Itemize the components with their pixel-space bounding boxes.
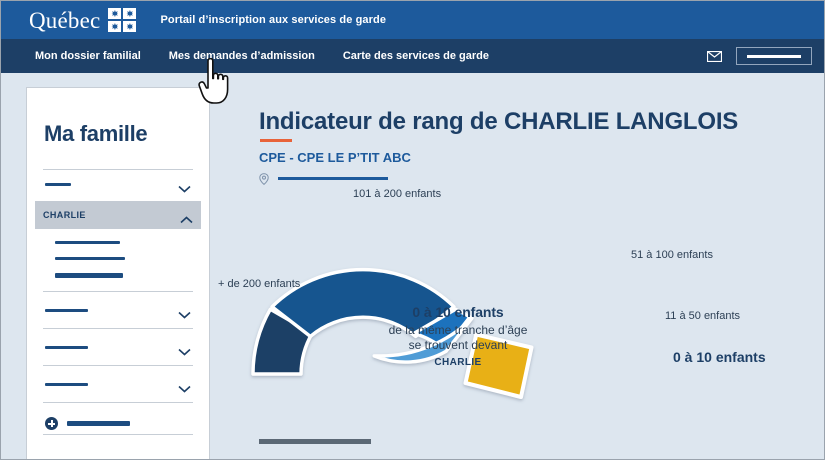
gauge-center-desc-line1: de la même tranche d’âge [338,323,578,338]
gauge-label-plus-200: + de 200 enfants [218,278,300,290]
sidebar-item-charlie[interactable]: CHARLIE [35,201,201,229]
rank-gauge-chart: 101 à 200 enfants + de 200 enfants 51 à … [233,184,693,419]
sidebar-item-collapsed[interactable] [41,170,195,198]
chevron-up-icon [180,211,193,219]
gauge-center-value: 0 à 10 enfants [338,304,578,320]
sidebar-section-divider-2 [43,328,193,329]
address-label [278,177,388,180]
gauge-center-text: 0 à 10 enfants de la même tranche d’âge … [338,304,578,368]
address-row [259,172,388,184]
sidebar-title: Ma famille [44,121,195,147]
family-sidebar: Ma famille CHARLIE [26,87,210,460]
nav-item-mes-demandes-admission[interactable]: Mes demandes d’admission [155,50,329,62]
account-button[interactable] [736,47,812,65]
page-title: Indicateur de rang de CHARLIE LANGLOIS [259,108,738,136]
sidebar-section-1[interactable] [41,296,195,324]
sidebar-section-divider-4 [43,402,193,403]
sidebar-child-link-2[interactable] [55,257,125,260]
sidebar-section-2-label [45,346,88,349]
title-accent-underline [260,139,292,142]
sidebar-section-divider-1 [43,291,193,292]
chevron-down-icon [178,343,191,351]
sidebar-section-3[interactable] [41,370,195,398]
gauge-label-0-10: 0 à 10 enfants [673,349,766,365]
add-child-label [67,421,130,426]
sidebar-child-link-1[interactable] [55,241,120,244]
main-navigation: Mon dossier familial Mes demandes d’admi… [1,39,825,73]
chevron-down-icon [178,380,191,388]
sidebar-section-divider-3 [43,365,193,366]
plus-icon [45,417,58,430]
gauge-center-desc-line2: se trouvent devant [338,338,578,353]
chevron-down-icon [178,306,191,314]
main-content: Indicateur de rang de CHARLIE LANGLOIS C… [213,74,824,459]
app-window: Québec Portail d’inscription aux service… [0,0,825,460]
gauge-label-11-50: 11 à 50 enfants [665,310,740,322]
brand-bar: Québec Portail d’inscription aux service… [1,1,825,39]
map-pin-icon [259,172,269,184]
envelope-icon[interactable] [707,51,722,62]
sidebar-child-links [41,241,195,278]
chevron-down-icon [178,180,191,188]
gauge-center-child-name: CHARLIE [338,357,578,368]
quebec-logo[interactable]: Québec [29,8,136,32]
gauge-label-51-100: 51 à 100 enfants [631,249,713,261]
sidebar-child-link-3[interactable] [55,273,123,278]
gauge-svg [233,184,693,419]
sidebar-section-divider-5 [43,434,193,435]
nav-item-carte-services-garde[interactable]: Carte des services de garde [329,50,503,62]
add-child-button[interactable] [41,407,195,430]
service-subtitle: CPE - CPE LE P’TIT ABC [259,150,411,165]
quebec-wordmark: Québec [29,9,100,32]
nav-right-group [707,39,812,73]
sidebar-item-collapsed-label [45,183,71,186]
bottom-redacted-bar [259,439,371,444]
sidebar-section-1-label [45,309,88,312]
quebec-flag-icon [108,8,136,32]
portal-title: Portail d’inscription aux services de ga… [160,14,386,26]
sidebar-item-charlie-label: CHARLIE [43,210,86,220]
sidebar-section-3-label [45,383,88,386]
gauge-label-101-200: 101 à 200 enfants [353,188,441,200]
account-button-label [747,55,801,58]
sidebar-section-2[interactable] [41,333,195,361]
nav-item-mon-dossier-familial[interactable]: Mon dossier familial [21,50,155,62]
